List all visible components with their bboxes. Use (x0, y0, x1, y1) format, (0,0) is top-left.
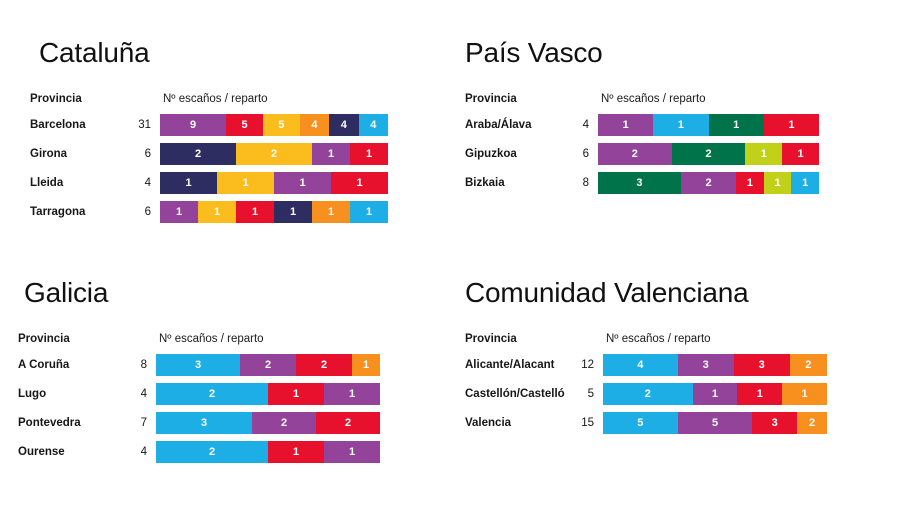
bar-segment: 1 (324, 383, 380, 405)
column-header-spacer (570, 93, 598, 114)
bar-segment: 2 (296, 354, 352, 376)
region-title-cataluna: Cataluña (39, 38, 430, 67)
bar-segment: 3 (156, 412, 252, 434)
stacked-bar: 2211 (598, 143, 819, 165)
table-row: Valencia155532 (465, 412, 880, 441)
seat-total: 6 (130, 143, 160, 172)
table-header-row: Provincia Nº escaños / reparto (465, 333, 880, 354)
column-header-provincia: Provincia (465, 93, 570, 114)
bar-segment: 1 (160, 172, 217, 194)
stacked-bar: 322 (156, 412, 380, 434)
province-label: Lugo (18, 383, 128, 412)
seat-table-valenciana: Provincia Nº escaños / reparto Alicante/… (465, 333, 880, 441)
bar-segment: 1 (709, 114, 764, 136)
region-title-valenciana: Comunidad Valenciana (465, 278, 880, 307)
column-header-spacer (130, 93, 160, 114)
bar-segment: 3 (598, 172, 681, 194)
province-label: Ourense (18, 441, 128, 470)
province-label: Gipuzkoa (465, 143, 570, 172)
table-row: Gipuzkoa62211 (465, 143, 875, 172)
bar-segment: 1 (352, 354, 380, 376)
bar-segment: 1 (782, 383, 827, 405)
seat-total: 4 (128, 383, 156, 412)
bar-segment: 1 (324, 441, 380, 463)
seat-bar-cell: 3221 (156, 354, 430, 383)
seat-bar-cell: 1111 (160, 172, 430, 201)
seat-bar-cell: 322 (156, 412, 430, 441)
bar-segment: 1 (274, 172, 331, 194)
region-title-paisvasco: País Vasco (465, 38, 875, 67)
bar-segment: 5 (263, 114, 300, 136)
table-row: Pontevedra7322 (18, 412, 430, 441)
bar-segment: 2 (252, 412, 316, 434)
seat-total: 5 (577, 383, 603, 412)
bar-segment: 5 (226, 114, 263, 136)
bar-segment: 3 (156, 354, 240, 376)
seat-total: 8 (128, 354, 156, 383)
region-title-galicia: Galicia (24, 278, 430, 307)
seat-bar-cell: 1111 (598, 114, 875, 143)
seat-table-cataluna: Provincia Nº escaños / reparto Barcelona… (30, 93, 430, 230)
column-header-provincia: Provincia (30, 93, 130, 114)
bar-segment: 1 (782, 143, 819, 165)
column-header-provincia: Provincia (18, 333, 128, 354)
province-label: Lleida (30, 172, 130, 201)
bar-segment: 5 (678, 412, 753, 434)
seat-bar-cell: 2211 (160, 143, 430, 172)
bar-segment: 1 (693, 383, 738, 405)
stacked-bar: 4332 (603, 354, 827, 376)
bar-segment: 2 (156, 383, 268, 405)
bar-segment: 2 (316, 412, 380, 434)
bar-segment: 1 (350, 143, 388, 165)
table-row: A Coruña83221 (18, 354, 430, 383)
seat-total: 4 (570, 114, 598, 143)
bar-segment: 2 (240, 354, 296, 376)
bar-segment: 2 (797, 412, 827, 434)
stacked-bar: 3221 (156, 354, 380, 376)
province-label: Castellón/Castelló (465, 383, 577, 412)
seat-total: 15 (577, 412, 603, 441)
column-header-spacer (128, 333, 156, 354)
table-row: Girona62211 (30, 143, 430, 172)
panel-paisvasco: País Vasco Provincia Nº escaños / repart… (465, 38, 875, 201)
seat-bar-cell: 955444 (160, 114, 430, 143)
table-row: Lugo4211 (18, 383, 430, 412)
bar-segment: 2 (156, 441, 268, 463)
stacked-bar: 211 (156, 383, 380, 405)
table-header-row: Provincia Nº escaños / reparto (465, 93, 875, 114)
table-row: Alicante/Alacant124332 (465, 354, 880, 383)
column-header-provincia: Provincia (465, 333, 577, 354)
bar-segment: 1 (598, 114, 653, 136)
bar-segment: 5 (603, 412, 678, 434)
bar-segment: 1 (736, 172, 764, 194)
province-label: Alicante/Alacant (465, 354, 577, 383)
province-label: Barcelona (30, 114, 130, 143)
bar-segment: 1 (312, 143, 350, 165)
bar-segment: 4 (329, 114, 358, 136)
bar-segment: 1 (737, 383, 782, 405)
bar-segment: 2 (672, 143, 746, 165)
bar-segment: 2 (681, 172, 736, 194)
table-row: Tarragona6111111 (30, 201, 430, 230)
seat-table-body: Barcelona31955444Girona62211Lleida41111T… (30, 114, 430, 230)
table-row: Araba/Álava41111 (465, 114, 875, 143)
seat-bar-cell: 211 (156, 383, 430, 412)
seat-bar-cell: 2211 (598, 143, 875, 172)
seat-bar-cell: 211 (156, 441, 430, 470)
seat-total: 8 (570, 172, 598, 201)
bar-segment: 1 (745, 143, 782, 165)
seat-bar-cell: 111111 (160, 201, 430, 230)
stacked-bar: 5532 (603, 412, 827, 434)
stacked-bar: 211 (156, 441, 380, 463)
seat-table-paisvasco: Provincia Nº escaños / reparto Araba/Ála… (465, 93, 875, 201)
bar-segment: 1 (764, 114, 819, 136)
table-row: Lleida41111 (30, 172, 430, 201)
seat-bar-cell: 5532 (603, 412, 880, 441)
seat-total: 6 (130, 201, 160, 230)
bar-segment: 2 (598, 143, 672, 165)
seat-table-body: A Coruña83221Lugo4211Pontevedra7322Ouren… (18, 354, 430, 470)
panel-valenciana: Comunidad Valenciana Provincia Nº escaño… (465, 278, 880, 441)
province-label: Tarragona (30, 201, 130, 230)
column-header-escanos: Nº escaños / reparto (598, 93, 875, 114)
bar-segment: 1 (236, 201, 274, 223)
bar-segment: 1 (764, 172, 792, 194)
stacked-bar: 1111 (598, 114, 819, 136)
stacked-bar: 2111 (603, 383, 827, 405)
stacked-bar: 955444 (160, 114, 388, 136)
province-label: Valencia (465, 412, 577, 441)
seat-total: 4 (128, 441, 156, 470)
bar-segment: 4 (300, 114, 329, 136)
bar-segment: 2 (790, 354, 827, 376)
seat-total: 7 (128, 412, 156, 441)
province-label: Pontevedra (18, 412, 128, 441)
seat-total: 6 (570, 143, 598, 172)
province-label: Araba/Álava (465, 114, 570, 143)
table-header-row: Provincia Nº escaños / reparto (30, 93, 430, 114)
seat-table-galicia: Provincia Nº escaños / reparto A Coruña8… (18, 333, 430, 470)
bar-segment: 3 (734, 354, 790, 376)
panel-galicia: Galicia Provincia Nº escaños / reparto A… (18, 278, 430, 470)
province-label: A Coruña (18, 354, 128, 383)
bar-segment: 1 (653, 114, 708, 136)
bar-segment: 1 (312, 201, 350, 223)
stacked-bar: 32111 (598, 172, 819, 194)
stacked-bar: 111111 (160, 201, 388, 223)
seat-total: 12 (577, 354, 603, 383)
table-row: Castellón/Castelló52111 (465, 383, 880, 412)
bar-segment: 3 (752, 412, 797, 434)
bar-segment: 4 (603, 354, 678, 376)
regional-seat-allocation-charts: Cataluña Provincia Nº escaños / reparto … (0, 0, 900, 507)
seat-total: 31 (130, 114, 160, 143)
bar-segment: 1 (791, 172, 819, 194)
bar-segment: 1 (268, 383, 324, 405)
panel-cataluna: Cataluña Provincia Nº escaños / reparto … (30, 38, 430, 230)
bar-segment: 1 (160, 201, 198, 223)
seat-table-body: Alicante/Alacant124332Castellón/Castelló… (465, 354, 880, 441)
bar-segment: 1 (268, 441, 324, 463)
seat-bar-cell: 32111 (598, 172, 875, 201)
bar-segment: 3 (678, 354, 734, 376)
column-header-spacer (577, 333, 603, 354)
bar-segment: 1 (350, 201, 388, 223)
column-header-escanos: Nº escaños / reparto (156, 333, 430, 354)
seat-bar-cell: 2111 (603, 383, 880, 412)
bar-segment: 9 (160, 114, 226, 136)
stacked-bar: 1111 (160, 172, 388, 194)
bar-segment: 1 (198, 201, 236, 223)
bar-segment: 2 (603, 383, 693, 405)
bar-segment: 2 (160, 143, 236, 165)
table-header-row: Provincia Nº escaños / reparto (18, 333, 430, 354)
column-header-escanos: Nº escaños / reparto (603, 333, 880, 354)
province-label: Girona (30, 143, 130, 172)
bar-segment: 1 (217, 172, 274, 194)
bar-segment: 4 (359, 114, 388, 136)
seat-bar-cell: 4332 (603, 354, 880, 383)
bar-segment: 1 (331, 172, 388, 194)
bar-segment: 2 (236, 143, 312, 165)
seat-table-body: Araba/Álava41111Gipuzkoa62211Bizkaia8321… (465, 114, 875, 201)
table-row: Ourense4211 (18, 441, 430, 470)
seat-total: 4 (130, 172, 160, 201)
province-label: Bizkaia (465, 172, 570, 201)
bar-segment: 1 (274, 201, 312, 223)
table-row: Barcelona31955444 (30, 114, 430, 143)
table-row: Bizkaia832111 (465, 172, 875, 201)
column-header-escanos: Nº escaños / reparto (160, 93, 430, 114)
stacked-bar: 2211 (160, 143, 388, 165)
